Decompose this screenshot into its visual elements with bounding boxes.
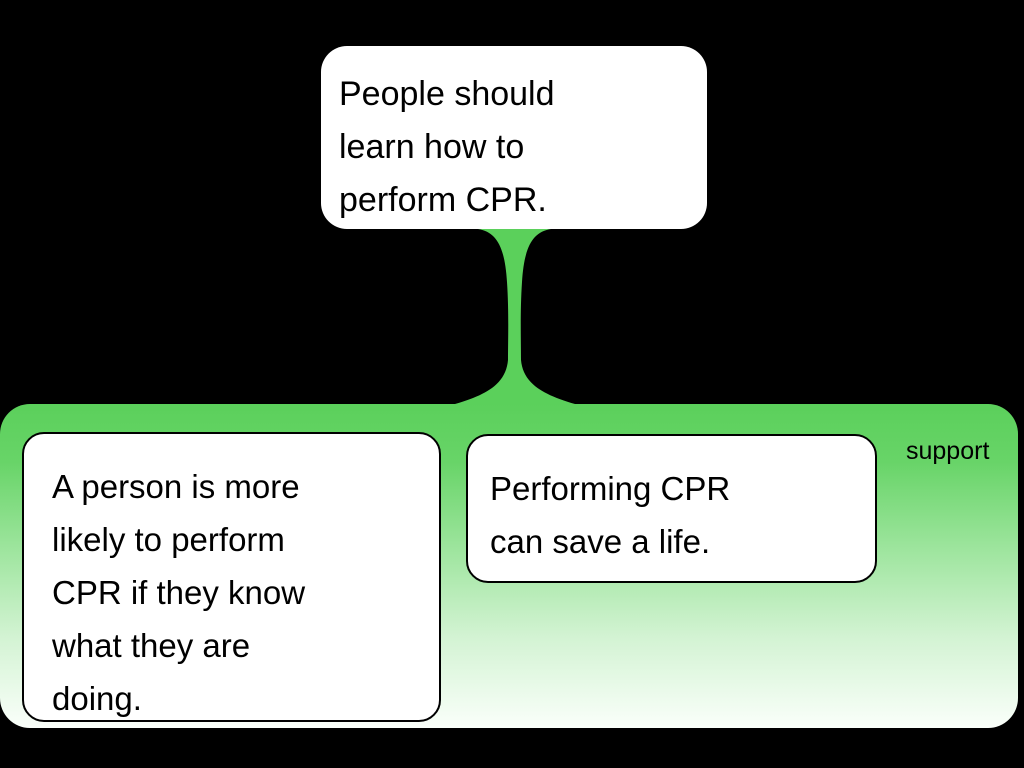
- premise-node-2-text: Performing CPR can save a life.: [490, 462, 730, 568]
- support-relation-label: support: [906, 437, 989, 466]
- premise-node-1-text: A person is more likely to perform CPR i…: [52, 460, 305, 725]
- argument-map-canvas: People should learn how to perform CPR. …: [0, 0, 1024, 768]
- support-connector-arrow[interactable]: [455, 229, 575, 404]
- conclusion-node[interactable]: People should learn how to perform CPR.: [321, 46, 707, 229]
- premise-node-2[interactable]: Performing CPR can save a life.: [466, 434, 877, 583]
- conclusion-node-text: People should learn how to perform CPR.: [339, 68, 555, 227]
- premise-node-1[interactable]: A person is more likely to perform CPR i…: [22, 432, 441, 722]
